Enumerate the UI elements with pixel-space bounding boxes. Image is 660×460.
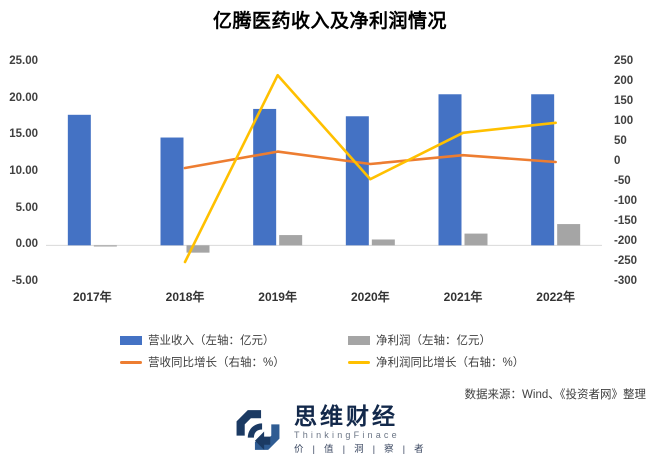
legend-item-3[interactable]: 净利润同比增长（右轴：%） xyxy=(348,354,524,370)
right-axis-tick-3: 100 xyxy=(614,116,633,128)
bar-2019年-revenue xyxy=(253,109,276,245)
legend-swatch-line-icon xyxy=(120,361,142,364)
right-axis-tick-7: -100 xyxy=(614,196,637,208)
bar-2020年-revenue xyxy=(346,116,369,245)
bar-2021年-revenue xyxy=(439,94,462,245)
bar-2021年-net-profit xyxy=(465,234,488,246)
x-axis-label-2020年: 2020年 xyxy=(324,288,417,305)
logo-name-cn: 思维财经 xyxy=(294,404,427,428)
right-axis-tick-5: 0 xyxy=(614,156,620,168)
chart-container: 亿腾医药收入及净利润情况 25.0020.0015.0010.005.000.0… xyxy=(0,0,660,460)
right-axis-tick-2: 150 xyxy=(614,96,633,108)
chart-legend: 营业收入（左轴：亿元）净利润（左轴：亿元）营收同比增长（右轴：%）净利润同比增长… xyxy=(120,332,550,376)
line-profit-growth xyxy=(185,75,556,262)
right-axis-tick-9: -200 xyxy=(614,236,637,248)
line-revenue-growth xyxy=(185,152,556,168)
right-axis-tick-0: 250 xyxy=(614,56,633,68)
legend-label: 净利润（左轴：亿元） xyxy=(376,332,491,348)
left-axis-tick-5: 0.00 xyxy=(16,239,38,251)
legend-label: 净利润同比增长（右轴：%） xyxy=(376,354,524,370)
legend-label: 营业收入（左轴：亿元） xyxy=(148,332,275,348)
left-axis-tick-6: -5.00 xyxy=(12,276,38,288)
x-axis-label-2019年: 2019年 xyxy=(231,288,324,305)
x-axis-label-2022年: 2022年 xyxy=(509,288,602,305)
x-axis-label-2017年: 2017年 xyxy=(46,288,139,305)
left-axis-tick-0: 25.00 xyxy=(9,56,38,68)
legend-item-1[interactable]: 净利润（左轴：亿元） xyxy=(348,332,491,348)
thinking-finance-logo-icon xyxy=(232,406,284,454)
brand-logo: 思维财经 ThinkingFinace 价 | 值 | 洞 | 察 | 者 xyxy=(232,404,427,455)
legend-item-2[interactable]: 营收同比增长（右轴：%） xyxy=(120,354,285,370)
x-axis-category-labels: 2017年2018年2019年2020年2021年2022年 xyxy=(46,288,602,308)
legend-swatch-bar-icon xyxy=(348,336,370,345)
left-axis-tick-4: 5.00 xyxy=(16,203,38,215)
plot-area xyxy=(46,62,602,282)
bar-2022年-revenue xyxy=(531,94,554,245)
legend-label: 营收同比增长（右轴：%） xyxy=(148,354,285,370)
legend-swatch-bar-icon xyxy=(120,336,142,345)
legend-item-0[interactable]: 营业收入（左轴：亿元） xyxy=(120,332,275,348)
left-axis-tick-2: 15.00 xyxy=(9,129,38,141)
right-axis-tick-11: -300 xyxy=(614,276,637,288)
chart-plot-svg xyxy=(46,62,602,282)
x-axis-label-2018年: 2018年 xyxy=(139,288,232,305)
bar-2018年-revenue xyxy=(161,138,184,246)
data-source-note: 数据来源：Wind、《投资者网》整理 xyxy=(465,386,646,402)
bar-2022年-net-profit xyxy=(557,224,580,245)
bar-2019年-net-profit xyxy=(279,235,302,245)
right-axis-tick-1: 200 xyxy=(614,76,633,88)
x-axis-label-2021年: 2021年 xyxy=(417,288,510,305)
bar-2017年-revenue xyxy=(68,115,91,246)
right-axis-tick-6: -50 xyxy=(614,176,631,188)
logo-name-en: ThinkingFinace xyxy=(294,430,427,440)
bar-2017年-net-profit xyxy=(94,245,117,246)
right-axis-tick-8: -150 xyxy=(614,216,637,228)
chart-title: 亿腾医药收入及净利润情况 xyxy=(0,6,660,33)
left-axis-tick-1: 20.00 xyxy=(9,93,38,105)
bar-2020年-net-profit xyxy=(372,239,395,245)
left-axis-tick-3: 10.00 xyxy=(9,166,38,178)
legend-swatch-line-icon xyxy=(348,361,370,364)
logo-tagline: 价 | 值 | 洞 | 察 | 者 xyxy=(294,441,427,455)
right-axis-tick-4: 50 xyxy=(614,136,627,148)
right-axis-tick-10: -250 xyxy=(614,256,637,268)
